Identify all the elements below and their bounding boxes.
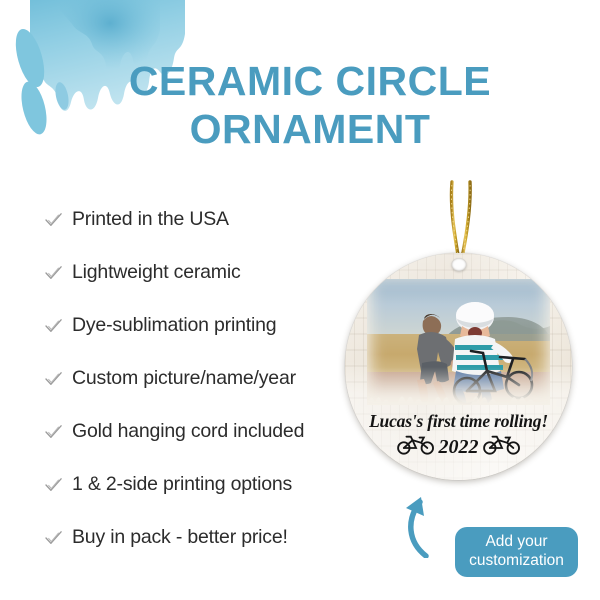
check-icon [44, 477, 68, 493]
check-icon [44, 318, 68, 334]
title-line-2: ORNAMENT [110, 106, 510, 154]
list-item: 1 & 2-side printing options [44, 458, 344, 511]
cord-grommet [451, 258, 466, 271]
check-icon [44, 371, 68, 387]
ornament-year-line: 2022 [345, 434, 572, 460]
list-item: Buy in pack - better price! [44, 511, 344, 564]
list-item: Dye-sublimation printing [44, 299, 344, 352]
ornament-script-text: Lucas's first time rolling! [345, 411, 572, 432]
feature-list: Printed in the USA Lightweight ceramic D… [44, 193, 344, 564]
list-item-label: Lightweight ceramic [72, 261, 241, 284]
ornament-disc: Lucas's first time rolling! [345, 253, 572, 480]
curved-arrow-icon [396, 486, 458, 558]
cta-line-2: customization [469, 552, 564, 571]
list-item-label: Buy in pack - better price! [72, 526, 288, 549]
list-item-label: Custom picture/name/year [72, 367, 296, 390]
check-icon [44, 424, 68, 440]
ornament-year: 2022 [439, 436, 479, 459]
bicycle-icon [482, 434, 522, 460]
page-title: CERAMIC CIRCLE ORNAMENT [110, 58, 510, 154]
check-icon [44, 212, 68, 228]
cta-line-1: Add your [485, 533, 547, 552]
add-customization-button[interactable]: Add your customization [455, 527, 578, 577]
bicycle-icon [396, 434, 436, 460]
list-item: Gold hanging cord included [44, 405, 344, 458]
list-item-label: 1 & 2-side printing options [72, 473, 292, 496]
list-item: Custom picture/name/year [44, 352, 344, 405]
list-item: Printed in the USA [44, 193, 344, 246]
check-icon [44, 530, 68, 546]
title-line-1: CERAMIC CIRCLE [129, 58, 491, 104]
list-item-label: Gold hanging cord included [72, 420, 304, 443]
ceramic-circle-ornament: Lucas's first time rolling! [340, 180, 585, 485]
list-item: Lightweight ceramic [44, 246, 344, 299]
product-feature-graphic: CERAMIC CIRCLE ORNAMENT Printed in the U… [0, 0, 600, 600]
list-item-label: Dye-sublimation printing [72, 314, 276, 337]
check-icon [44, 265, 68, 281]
custom-photo [367, 279, 550, 405]
list-item-label: Printed in the USA [72, 208, 229, 231]
